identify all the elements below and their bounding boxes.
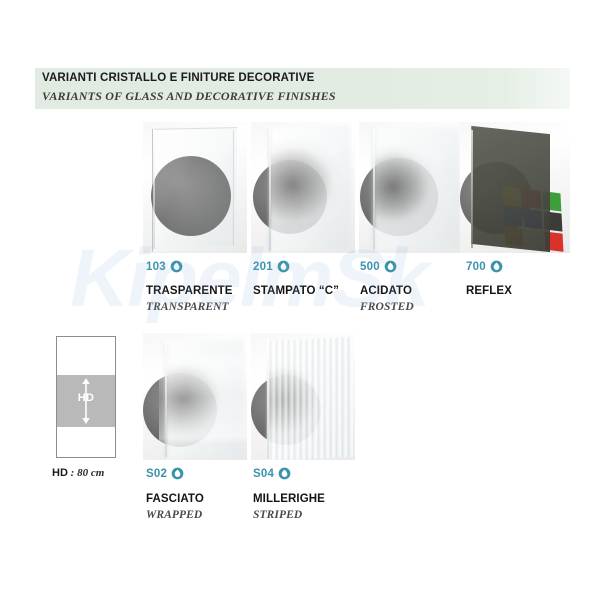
product-code: S02 [146, 468, 167, 480]
glass-drop-icon [384, 260, 397, 273]
page-subtitle: VARIANTS OF GLASS AND DECORATIVE FINISHE… [42, 89, 336, 104]
glass-edge-highlight [471, 130, 473, 248]
product-name-en: FROSTED [360, 301, 414, 313]
glass-drop-icon [277, 260, 290, 273]
swatch-reflex[interactable] [460, 122, 570, 253]
page-title: VARIANTI CRISTALLO E FINITURE DECORATIVE [42, 72, 314, 84]
swatch-acidato[interactable] [359, 122, 463, 253]
product-code: 700 [466, 261, 486, 273]
glass-edge-highlight [165, 341, 167, 457]
product-code: 201 [253, 261, 273, 273]
product-name-en: STRIPED [253, 509, 302, 521]
glass-edge-highlight [373, 128, 375, 250]
glass-sheet [269, 126, 350, 253]
glass-edge-highlight [153, 129, 155, 249]
hd-band-label: HD [57, 392, 115, 404]
hd-caption-sep: : [68, 467, 77, 479]
glass-sheet [373, 127, 460, 251]
code-row-201[interactable]: 201 [253, 260, 290, 273]
glass-edge-highlight [269, 127, 271, 251]
code-row-500[interactable]: 500 [360, 260, 397, 273]
product-name-it: MILLERIGHE [253, 493, 325, 505]
glass-drop-icon [171, 467, 184, 480]
swatch-fasciato[interactable] [143, 333, 247, 460]
hd-caption-key: HD [52, 467, 68, 479]
swatch-stampato-c[interactable] [251, 122, 355, 253]
swatch-transparent[interactable] [143, 122, 247, 253]
glass-drop-icon [490, 260, 503, 273]
code-row-s04[interactable]: S04 [253, 467, 291, 480]
code-row-s02[interactable]: S02 [146, 467, 184, 480]
product-name-en: TRANSPARENT [146, 301, 229, 313]
hd-caption-value: 80 cm [77, 467, 104, 479]
product-name-it: TRASPARENTE [146, 285, 233, 297]
product-name-it: FASCIATO [146, 493, 204, 505]
wrap-band [159, 347, 247, 446]
glass-front-face [155, 130, 234, 246]
product-code: 500 [360, 261, 380, 273]
hd-diagram: HD [56, 336, 116, 458]
glass-sheet [471, 126, 550, 252]
product-code: S04 [253, 468, 274, 480]
product-code: 103 [146, 261, 166, 273]
glass-drop-icon [278, 467, 291, 480]
glass-drop-icon [170, 260, 183, 273]
code-row-103[interactable]: 103 [146, 260, 183, 273]
glass-edge-highlight [267, 339, 269, 459]
hd-caption: HD : 80 cm [52, 467, 104, 479]
fluted-stripes [267, 337, 353, 460]
product-name-it: ACIDATO [360, 285, 412, 297]
product-name-it: STAMPATO “C” [253, 285, 339, 297]
code-row-700[interactable]: 700 [466, 260, 503, 273]
swatch-millerighe[interactable] [251, 333, 355, 460]
product-name-en: WRAPPED [146, 509, 202, 521]
product-name-it: REFLEX [466, 285, 512, 297]
